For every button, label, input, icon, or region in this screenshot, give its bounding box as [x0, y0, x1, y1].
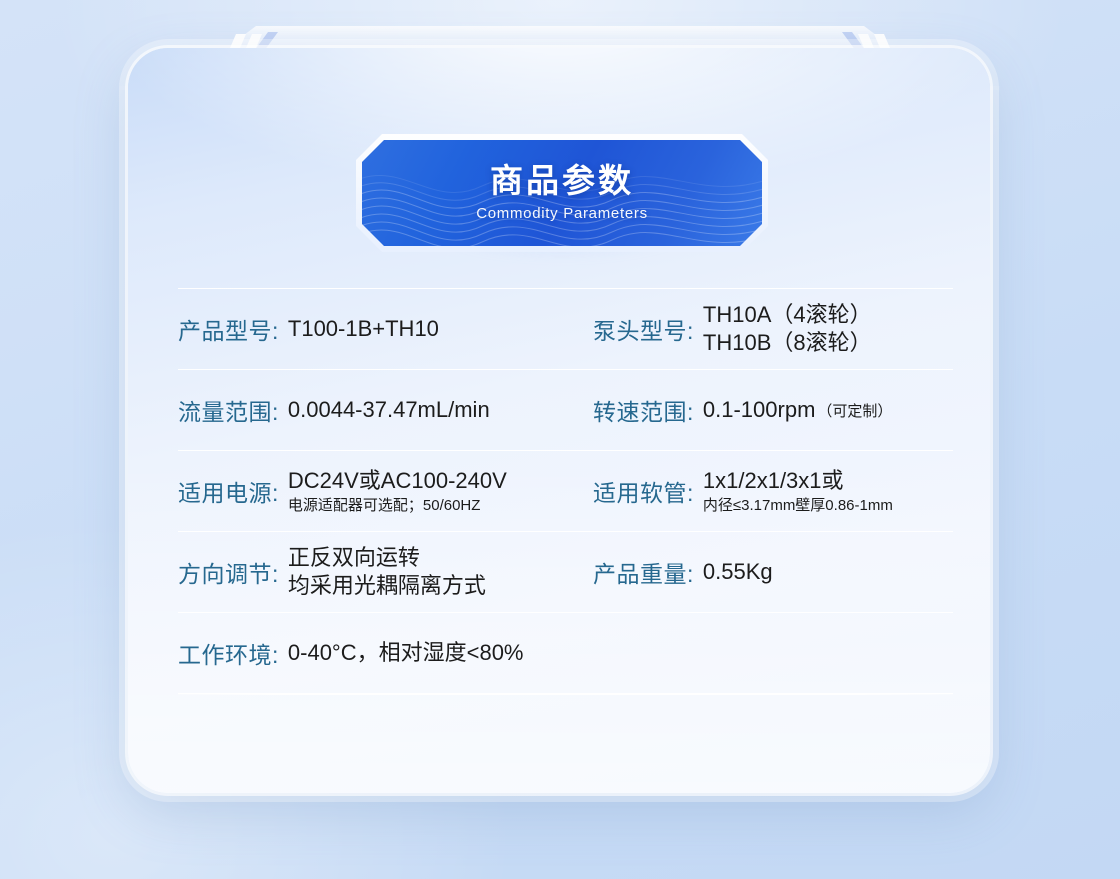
- spec-label: 泵头型号:: [593, 312, 703, 346]
- spec-value-line-2: TH10B（8滚轮）: [703, 329, 872, 357]
- spec-value-line-1: 正反双向运转: [288, 544, 486, 572]
- spec-value-note: （可定制）: [817, 400, 892, 421]
- spec-label: 工作环境:: [178, 636, 288, 670]
- spec-value: 0-40°C，相对湿度<80%: [288, 639, 524, 667]
- spec-row: 适用电源: DC24V或AC100-240V 电源适配器可选配；50/60HZ …: [178, 450, 953, 531]
- spec-item-direction-control: 方向调节: 正反双向运转 均采用光耦隔离方式: [178, 532, 593, 612]
- spec-value-subnote: 电源适配器可选配；50/60HZ: [288, 496, 507, 516]
- banner-title-en: Commodity Parameters: [476, 205, 648, 222]
- spec-row: 方向调节: 正反双向运转 均采用光耦隔离方式 产品重量: 0.55Kg: [178, 531, 953, 612]
- spec-label: 流量范围:: [178, 393, 288, 427]
- spec-value: TH10A（4滚轮） TH10B（8滚轮）: [703, 301, 872, 357]
- spec-value: 0.0044-37.47mL/min: [288, 396, 490, 424]
- spec-value-line-1: 1x1/2x1/3x1或: [703, 467, 893, 495]
- banner-body: 商品参数 Commodity Parameters: [362, 140, 762, 246]
- spec-label: 产品型号:: [178, 312, 288, 346]
- spec-value-line-2: 均采用光耦隔离方式: [288, 572, 486, 600]
- spec-value: DC24V或AC100-240V 电源适配器可选配；50/60HZ: [288, 467, 507, 516]
- spec-item-working-environment: 工作环境: 0-40°C，相对湿度<80%: [178, 613, 953, 693]
- banner-title-cn: 商品参数: [490, 164, 634, 199]
- spec-value: 0.1-100rpm: [703, 396, 816, 424]
- spec-value-line-1: TH10A（4滚轮）: [703, 301, 872, 329]
- spec-item-flow-range: 流量范围: 0.0044-37.47mL/min: [178, 370, 593, 450]
- commodity-parameters-banner: 商品参数 Commodity Parameters: [356, 134, 768, 252]
- spec-label: 适用软管:: [593, 474, 703, 508]
- spec-value-subnote: 内径≤3.17mm壁厚0.86-1mm: [703, 496, 893, 516]
- spec-value: 1x1/2x1/3x1或 内径≤3.17mm壁厚0.86-1mm: [703, 467, 893, 516]
- spec-value-line-1: DC24V或AC100-240V: [288, 467, 507, 495]
- specification-table: 产品型号: T100-1B+TH10 泵头型号: TH10A（4滚轮） TH10…: [178, 288, 953, 694]
- banner-text-block: 商品参数 Commodity Parameters: [362, 140, 762, 246]
- spec-item-product-model: 产品型号: T100-1B+TH10: [178, 289, 593, 369]
- spec-row: 流量范围: 0.0044-37.47mL/min 转速范围: 0.1-100rp…: [178, 369, 953, 450]
- spec-label: 适用电源:: [178, 474, 288, 508]
- spec-value: 0.55Kg: [703, 558, 773, 586]
- spec-item-speed-range: 转速范围: 0.1-100rpm （可定制）: [593, 370, 953, 450]
- spec-value: 正反双向运转 均采用光耦隔离方式: [288, 544, 486, 600]
- spec-label: 转速范围:: [593, 393, 703, 427]
- spec-item-power-supply: 适用电源: DC24V或AC100-240V 电源适配器可选配；50/60HZ: [178, 451, 593, 531]
- spec-label: 方向调节:: [178, 555, 288, 589]
- spec-item-product-weight: 产品重量: 0.55Kg: [593, 532, 953, 612]
- spec-item-tubing: 适用软管: 1x1/2x1/3x1或 内径≤3.17mm壁厚0.86-1mm: [593, 451, 953, 531]
- spec-row: 工作环境: 0-40°C，相对湿度<80%: [178, 612, 953, 694]
- spec-item-pump-head-model: 泵头型号: TH10A（4滚轮） TH10B（8滚轮）: [593, 289, 953, 369]
- spec-label: 产品重量:: [593, 555, 703, 589]
- spec-row: 产品型号: T100-1B+TH10 泵头型号: TH10A（4滚轮） TH10…: [178, 288, 953, 369]
- spec-value: T100-1B+TH10: [288, 315, 439, 343]
